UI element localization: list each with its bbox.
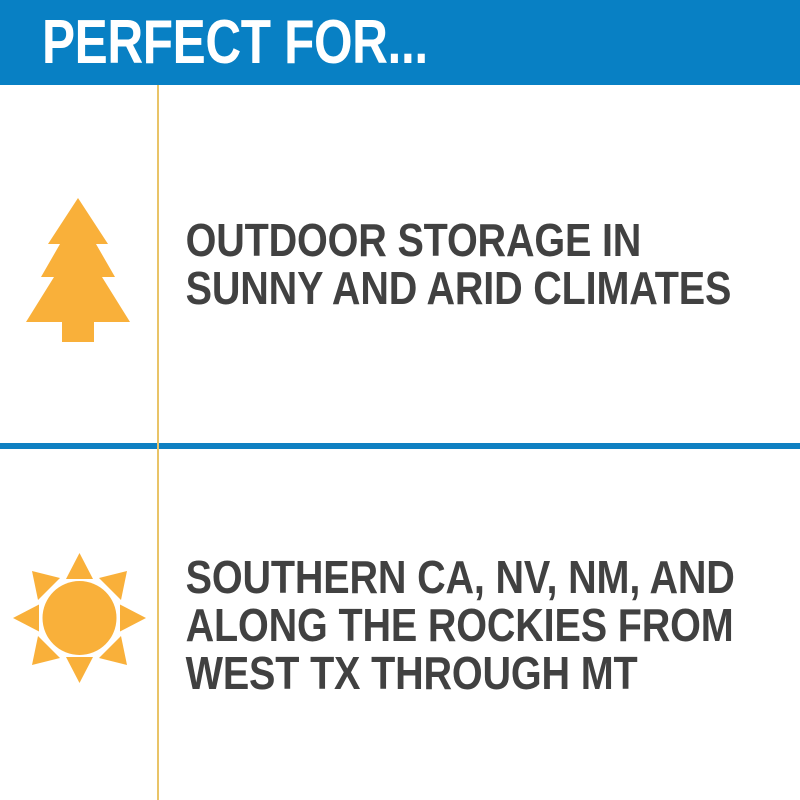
header-banner: PERFECT FOR... (0, 0, 800, 85)
feature-text-line: SUNNY AND ARID CLIMATES (186, 264, 732, 312)
page-title: PERFECT FOR... (42, 10, 428, 76)
sun-icon (13, 553, 146, 683)
pine-tree-icon (26, 198, 130, 342)
text-cell-regions: SOUTHERN CA, NV, NM, AND ALONG THE ROCKI… (159, 449, 800, 800)
feature-text-line: SOUTHERN CA, NV, NM, AND (186, 553, 735, 601)
text-cell-outdoor-storage: OUTDOOR STORAGE IN SUNNY AND ARID CLIMAT… (159, 85, 800, 443)
feature-text-regions: SOUTHERN CA, NV, NM, AND ALONG THE ROCKI… (159, 553, 735, 697)
feature-text-line: WEST TX THROUGH MT (186, 649, 735, 697)
feature-text-outdoor-storage: OUTDOOR STORAGE IN SUNNY AND ARID CLIMAT… (159, 216, 731, 312)
column-divider-vertical (157, 85, 159, 800)
feature-text-line: OUTDOOR STORAGE IN (186, 216, 732, 264)
feature-text-line: ALONG THE ROCKIES FROM (186, 601, 735, 649)
perfect-for-infographic: PERFECT FOR... OUTDOOR STORAGE IN SUNNY … (0, 0, 800, 800)
section-divider-horizontal (0, 443, 800, 449)
